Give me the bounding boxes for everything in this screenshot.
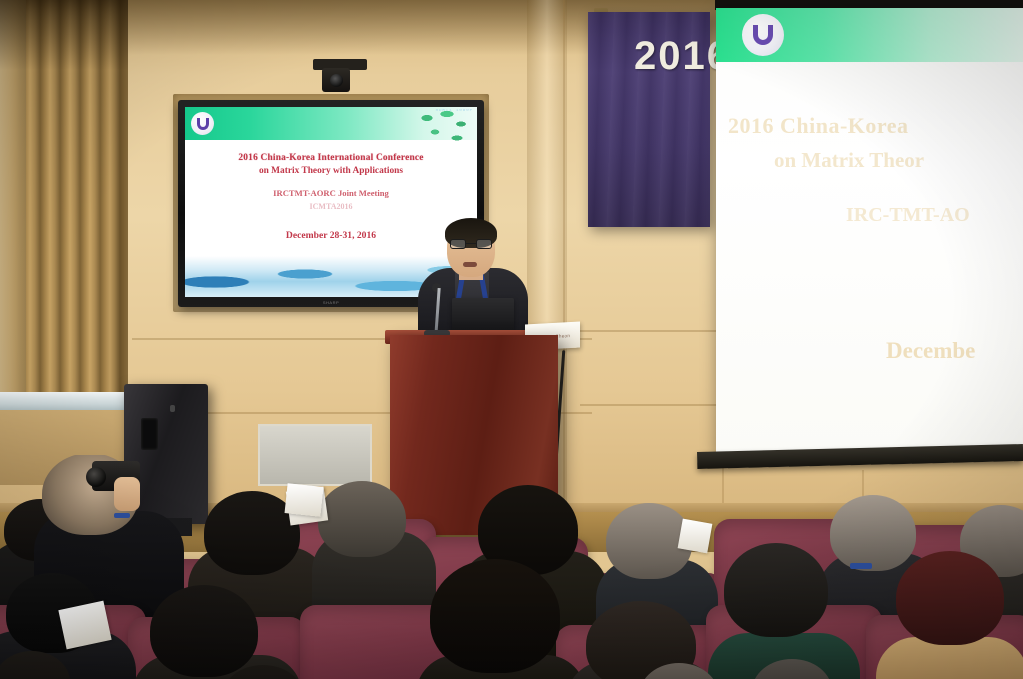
eyeglasses-icon	[450, 239, 492, 249]
laptop-icon	[452, 298, 514, 334]
slide-subtitle-faded: ICMTA2016	[185, 201, 477, 212]
audience-head	[896, 551, 1004, 645]
audience-head	[318, 481, 406, 557]
camera-lens-icon	[86, 467, 106, 487]
audience-area	[0, 455, 1023, 679]
tv-screen: HDMI1 1080P 2016 China-Korea Internation…	[185, 107, 477, 297]
photographer-hand	[114, 477, 140, 511]
projection-screen: 2016 China-Korea on Matrix Theor IRC-TMT…	[716, 8, 1023, 456]
badge-ribbon	[850, 563, 872, 569]
badge-ribbon	[114, 513, 130, 518]
slide-body: 2016 China-Korea International Conferenc…	[185, 140, 477, 258]
tv-osd-text: HDMI1 1080P	[436, 109, 473, 113]
presenter-mouth	[463, 262, 477, 267]
curtain-top-shadow	[0, 0, 128, 70]
hanging-banner: 2016	[588, 12, 710, 227]
handout-paper	[285, 483, 324, 517]
audience-head	[150, 585, 258, 677]
security-camera-lens-icon	[330, 74, 343, 87]
shanghai-university-logo-icon	[742, 14, 784, 56]
audience-head	[430, 559, 560, 673]
loudspeaker-handle	[141, 418, 158, 450]
audience-head	[830, 495, 916, 571]
loudspeaker-port	[170, 405, 175, 412]
slide-date: December 28-31, 2016	[185, 230, 477, 241]
slide-subtitle: IRCTMT-AORC Joint Meeting	[185, 187, 477, 199]
handout-paper	[678, 519, 713, 554]
slide-title-line2: on Matrix Theory with Applications	[185, 165, 477, 178]
projected-title-line1: 2016 China-Korea	[728, 113, 1023, 139]
projected-subtitle: IRC-TMT-AO	[846, 204, 1023, 227]
slide-title-line1: 2016 China-Korea International Conferenc…	[185, 152, 477, 165]
wall-seam	[580, 330, 720, 332]
audience-head	[724, 543, 828, 637]
shanghai-university-logo-icon	[191, 112, 214, 135]
conference-hall-photo: HDMI1 1080P 2016 China-Korea Internation…	[0, 0, 1023, 679]
projected-title-line2: on Matrix Theor	[774, 148, 1023, 173]
wall-seam	[580, 404, 725, 406]
projected-date: Decembe	[886, 338, 1023, 364]
